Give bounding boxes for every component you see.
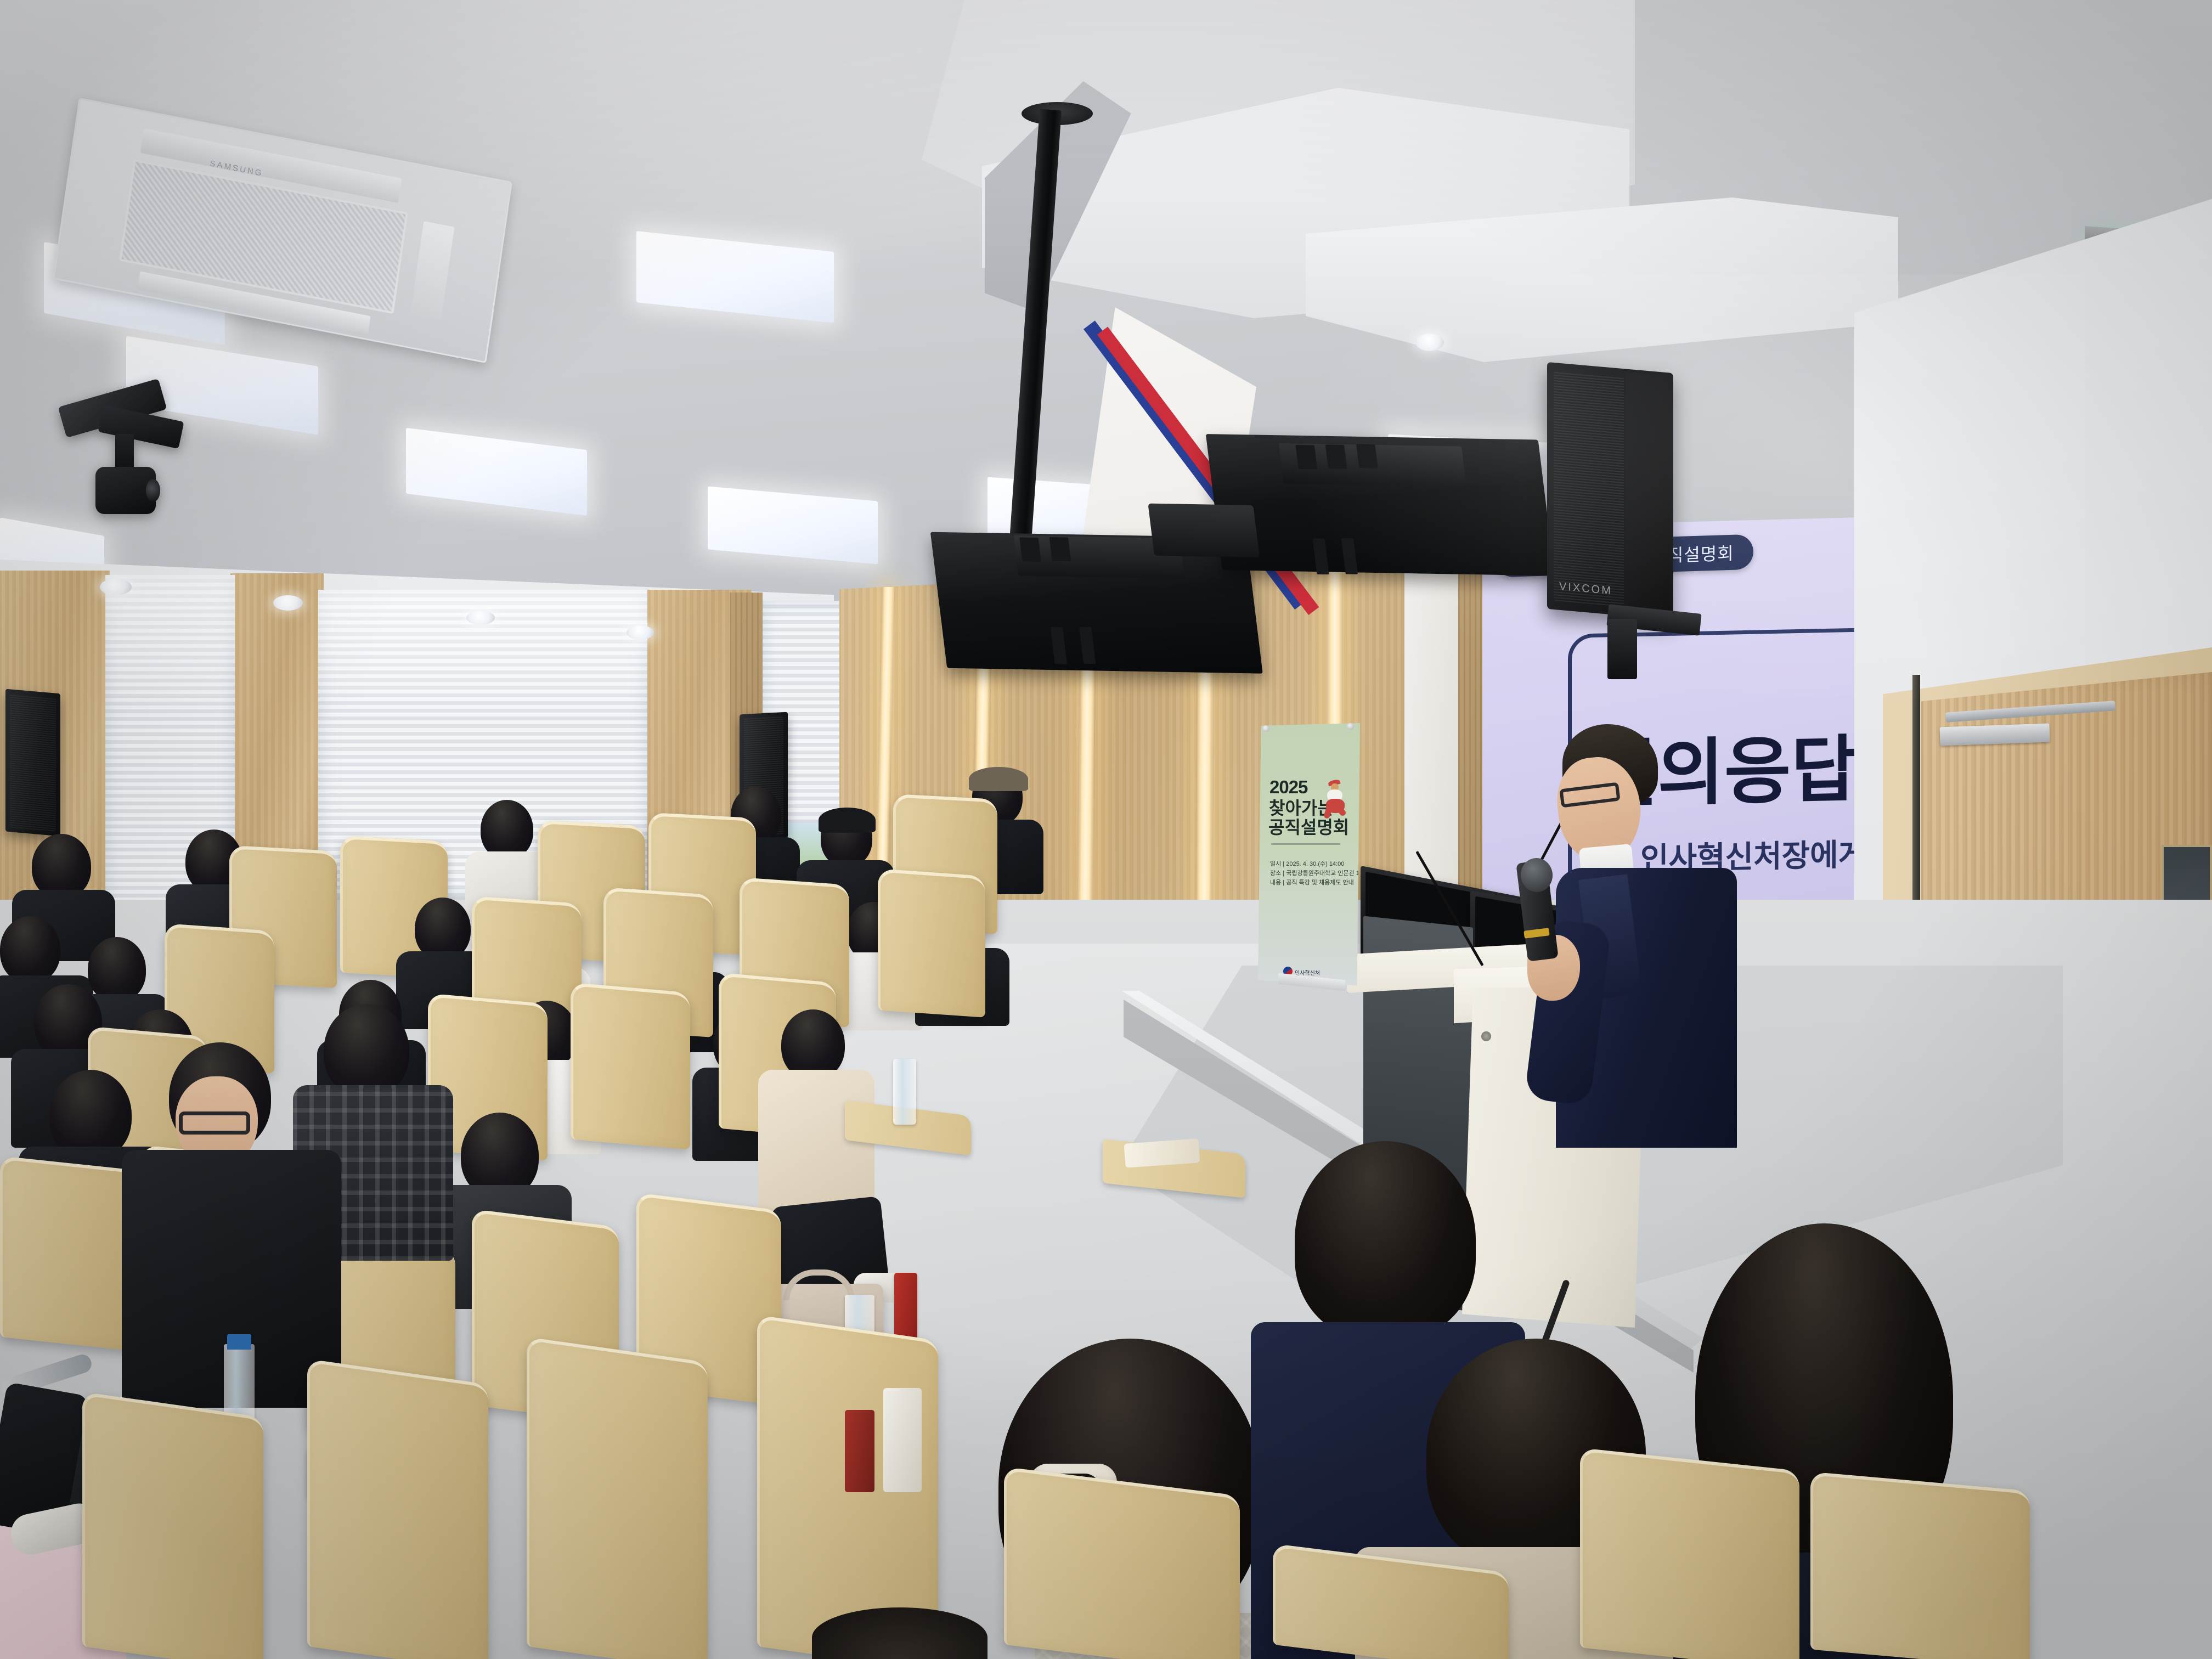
banner-top-clip [1262, 725, 1269, 732]
recessed-downlight [466, 611, 495, 625]
banner-divider [1271, 843, 1340, 845]
bottle-cap [227, 1334, 251, 1350]
audience-hair [1295, 1141, 1476, 1339]
tv-bracket-clip [1049, 537, 1071, 561]
auditorium-seat[interactable] [1580, 1448, 1799, 1659]
podium-screw [1481, 1031, 1491, 1041]
banner-line2: 공직설명회 [1268, 814, 1349, 839]
event-banner: 2025 찾아가는 공직설명회 일시 | 2025. 4. 30.(수) 14:… [1258, 723, 1360, 985]
recessed-downlight [100, 579, 132, 595]
speaker-mount-bracket [1607, 619, 1637, 679]
window-blinds-glow [105, 575, 235, 718]
door-closer [1939, 724, 2050, 746]
banner-top-clip [1347, 723, 1354, 730]
recessed-downlight [627, 625, 654, 640]
tv-mount-hub [1148, 504, 1260, 558]
floor-drink-bottle[interactable] [845, 1410, 874, 1492]
auditorium-seat[interactable] [82, 1392, 263, 1659]
auditorium-seat[interactable] [1004, 1467, 1240, 1659]
audience-cap [819, 808, 876, 833]
recessed-downlight [1415, 334, 1444, 351]
ceiling-projector-head [49, 387, 230, 562]
audience-cap [969, 767, 1028, 791]
auditorium-seat[interactable] [307, 1359, 488, 1659]
auditorium-seat[interactable] [527, 1337, 708, 1659]
tv-bracket-clip [1295, 445, 1317, 469]
tv-bracket-clip [1019, 538, 1041, 562]
tv-bracket-clip [1356, 444, 1378, 468]
banner-detail-line: 장소 | 국립강릉원주대학교 인문관 103호 [1270, 868, 1372, 877]
auditorium-seat[interactable] [1810, 1472, 2030, 1659]
tv-bracket-clip [1325, 444, 1347, 469]
auditorium-photo: SAMSUNG [0, 0, 2212, 1659]
presenter [1503, 724, 1756, 1152]
line-array-speaker: VIXCOM [1547, 362, 1673, 620]
recessed-downlight [273, 595, 303, 611]
window-blinds-glow [318, 590, 647, 716]
audience-glasses [179, 1111, 250, 1135]
water-bottle[interactable] [893, 1059, 916, 1125]
banner-detail-line: 내용 | 공직 특강 및 채용제도 안내 [1270, 878, 1354, 887]
banner-detail-line: 일시 | 2025. 4. 30.(수) 14:00 [1270, 859, 1344, 868]
